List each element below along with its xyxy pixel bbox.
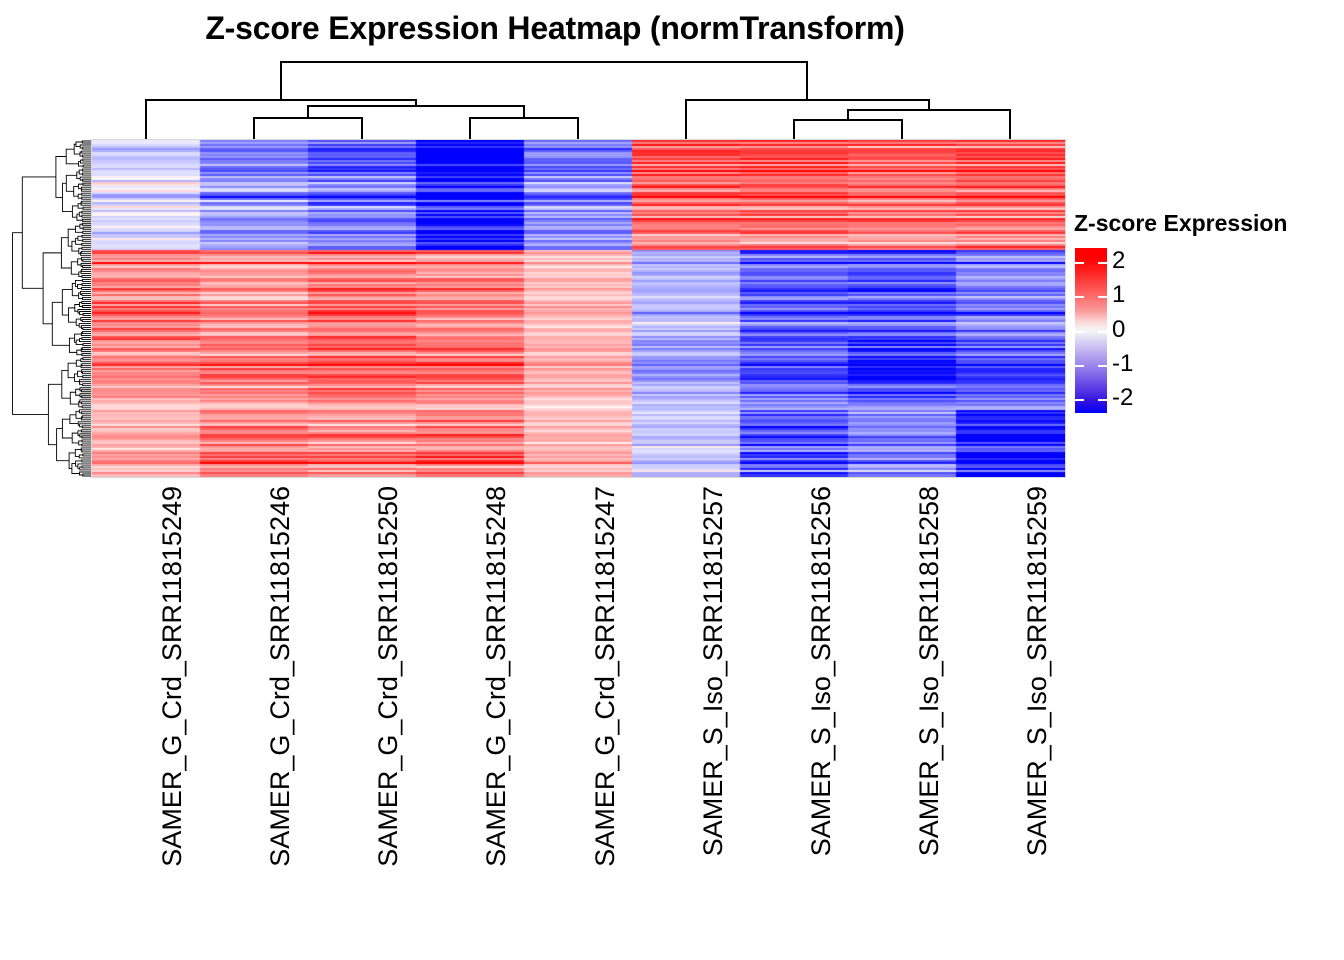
legend-tick-label-1: 1 [1112,283,1125,307]
column-label-6: SAMER_S_Iso_SRR11815257 [698,486,729,856]
column-label-4: SAMER_G_Crd_SRR11815248 [481,486,512,867]
column-label-2: SAMER_G_Crd_SRR11815246 [265,486,296,867]
legend-title: Z-score Expression [1074,210,1287,237]
legend-tick-mark [1098,365,1107,367]
legend-tick-mark [1098,296,1107,298]
legend-tick-mark [1098,262,1107,264]
column-dendrogram [92,56,1065,140]
heatmap-canvas [92,140,1065,477]
column-label-5: SAMER_G_Crd_SRR11815247 [590,486,621,867]
legend-tick-mark [1098,331,1107,333]
legend-tick-mark [1075,365,1084,367]
column-label-7: SAMER_S_Iso_SRR11815256 [806,486,837,856]
page-title: Z-score Expression Heatmap (normTransfor… [0,10,1110,47]
legend-tick-mark [1075,399,1084,401]
row-dendrogram [8,140,92,477]
legend-tick-mark [1075,262,1084,264]
heatmap-figure: Z-score Expression Heatmap (normTransfor… [0,0,1344,960]
column-label-8: SAMER_S_Iso_SRR11815258 [914,486,945,856]
heatmap-matrix [92,140,1065,477]
column-label-9: SAMER_S_Iso_SRR11815259 [1022,486,1053,856]
legend-tick-mark [1098,399,1107,401]
legend-tick-label-0: 2 [1112,249,1125,273]
legend-tick-label-4: -2 [1112,386,1133,410]
legend-tick-label-2: 0 [1112,318,1125,342]
column-label-3: SAMER_G_Crd_SRR11815250 [373,486,404,867]
legend-tick-label-3: -1 [1112,352,1133,376]
column-label-1: SAMER_G_Crd_SRR11815249 [157,486,188,867]
legend-tick-mark [1075,331,1084,333]
legend-tick-mark [1075,296,1084,298]
